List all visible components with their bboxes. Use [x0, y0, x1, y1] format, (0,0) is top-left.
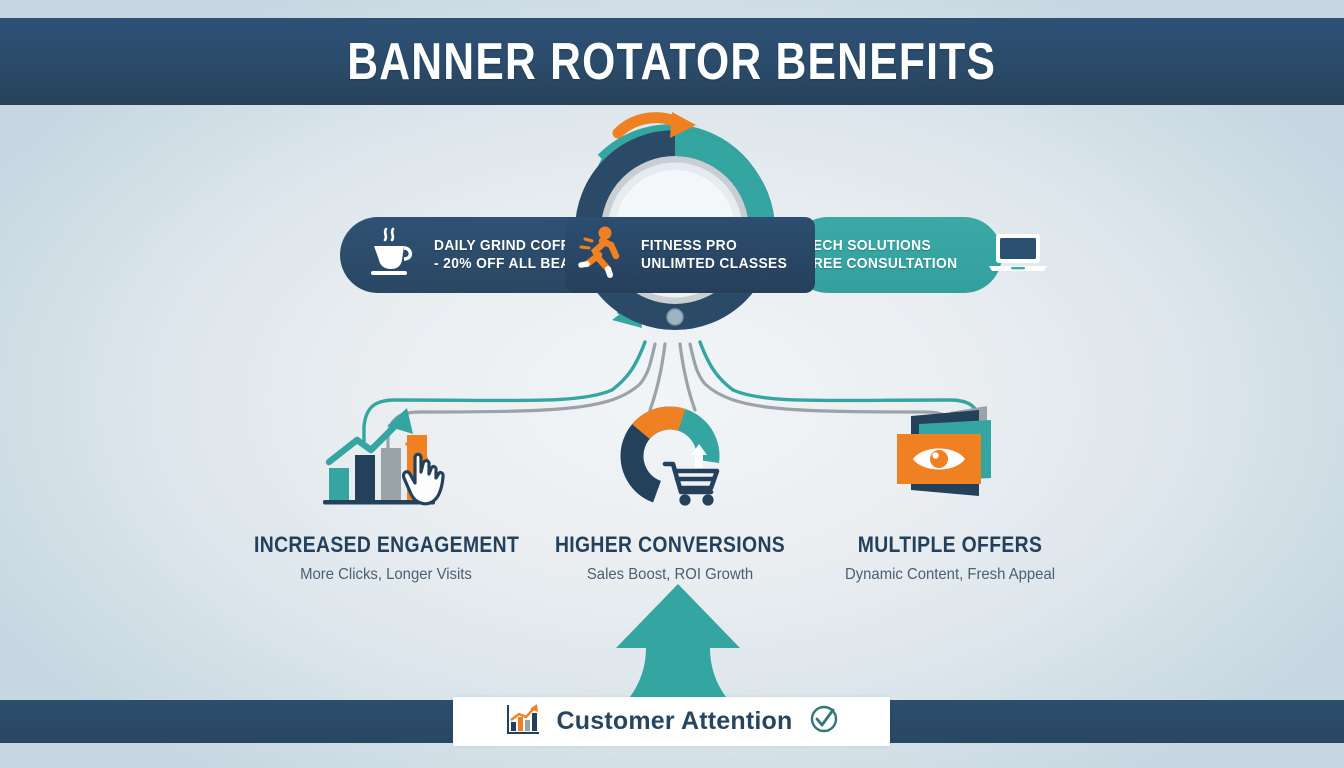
- check-circle-icon: [809, 704, 839, 739]
- footer-panel: Customer Attention: [453, 697, 890, 746]
- benefit-title: INCREASED ENGAGEMENT: [254, 532, 518, 558]
- page-title: BANNER ROTATOR BENEFITS: [348, 32, 997, 92]
- rotator-banner-fitness[interactable]: FITNESS PRO UNLIMTED CLASSES: [565, 217, 815, 293]
- benefit-item-engagement: INCREASED ENGAGEMENT More Clicks, Longer…: [236, 398, 536, 584]
- banner-text-tech: TECH SOLUTIONS FREE CONSULTATION: [804, 237, 957, 274]
- banner-line1: FITNESS PRO: [641, 237, 787, 255]
- running-person-icon: [575, 225, 627, 286]
- banner-text-fitness: FITNESS PRO UNLIMTED CLASSES: [641, 237, 787, 274]
- benefit-title: MULTIPLE OFFERS: [818, 532, 1082, 558]
- infographic-poster: BANNER ROTATOR BENEFITS: [0, 0, 1344, 768]
- bar-chart-growth-click-icon: [236, 398, 536, 518]
- bar-chart-trend-icon: [505, 702, 541, 741]
- banner-line2: UNLIMTED CLASSES: [641, 255, 787, 273]
- banner-line2: FREE CONSULTATION: [804, 255, 957, 273]
- benefit-subtitle: Sales Boost, ROI Growth: [531, 566, 810, 584]
- laptop-icon: [987, 231, 1049, 280]
- coffee-cup-icon: [364, 227, 418, 284]
- rotator-pivot-dot: [667, 309, 683, 325]
- footer-label: Customer Attention: [557, 707, 793, 736]
- benefit-item-conversions: HIGHER CONVERSIONS Sales Boost, ROI Grow…: [520, 398, 820, 584]
- benefit-title: HIGHER CONVERSIONS: [538, 532, 802, 558]
- rotator-banner-tech[interactable]: TECH SOLUTIONS FREE CONSULTATION: [790, 217, 1002, 293]
- benefit-item-offers: MULTIPLE OFFERS Dynamic Content, Fresh A…: [800, 398, 1100, 584]
- benefit-subtitle: Dynamic Content, Fresh Appeal: [811, 566, 1090, 584]
- banner-line1: TECH SOLUTIONS: [804, 237, 957, 255]
- benefit-subtitle: More Clicks, Longer Visits: [247, 566, 526, 584]
- donut-chart-shopping-cart-icon: [520, 398, 820, 518]
- stacked-cards-eye-icon: [800, 398, 1100, 518]
- header-bar: BANNER ROTATOR BENEFITS: [0, 18, 1344, 105]
